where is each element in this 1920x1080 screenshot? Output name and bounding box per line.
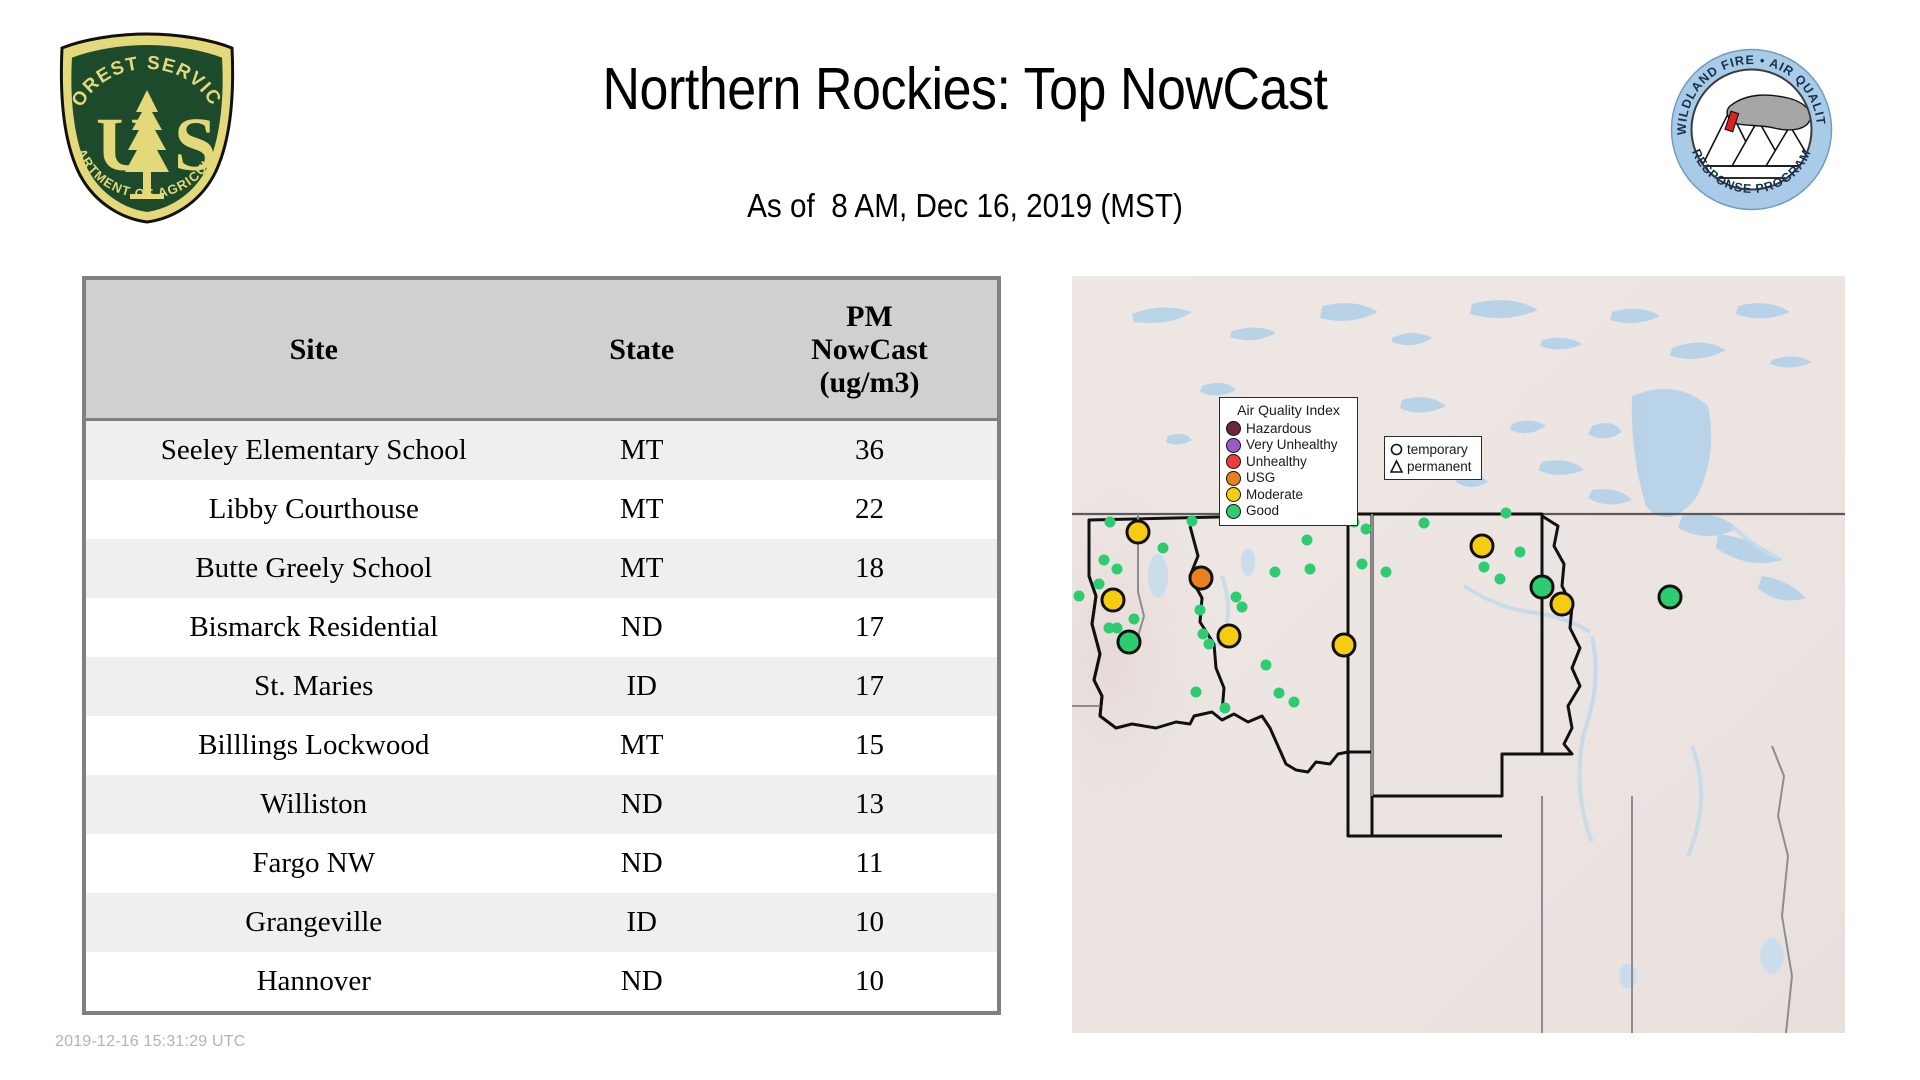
monitor-dot-small[interactable]: [1479, 562, 1490, 573]
state-cell: MT: [542, 480, 742, 539]
page-subtitle: As of 8 AM, Dec 16, 2019 (MST): [367, 188, 1564, 224]
aqi-legend-label: Unhealthy: [1246, 454, 1307, 471]
site-cell: Williston: [86, 775, 542, 834]
column-header-pm-nowcast: PM NowCast (ug/m3): [742, 280, 997, 420]
aqi-legend-label: Very Unhealthy: [1246, 437, 1338, 454]
state-cell: MT: [542, 539, 742, 598]
monitor-dot-large[interactable]: [1102, 589, 1124, 611]
value-cell: 10: [742, 893, 997, 952]
nowcast-label: NowCast: [811, 333, 928, 366]
state-cell: MT: [542, 716, 742, 775]
monitor-dot-small[interactable]: [1261, 660, 1272, 671]
monitor-dot-small[interactable]: [1204, 639, 1215, 650]
site-cell: Seeley Elementary School: [86, 420, 542, 481]
table-header-row: Site State PM NowCast (ug/m3): [86, 280, 997, 420]
aqi-swatch-icon: [1226, 454, 1241, 469]
value-cell: 17: [742, 657, 997, 716]
value-cell: 17: [742, 598, 997, 657]
monitor-dot-large[interactable]: [1118, 631, 1140, 653]
monitor-dot-small[interactable]: [1357, 559, 1368, 570]
monitor-dot-small[interactable]: [1195, 605, 1206, 616]
aqi-legend-title: Air Quality Index: [1226, 402, 1351, 419]
units-label: (ug/m3): [819, 366, 919, 399]
table-row: Libby CourthouseMT22: [86, 480, 997, 539]
monitor-dot-large[interactable]: [1190, 567, 1212, 589]
monitor-dot-small[interactable]: [1094, 579, 1105, 590]
monitor-dot-small[interactable]: [1289, 697, 1300, 708]
legend-permanent-label: permanent: [1407, 458, 1472, 475]
monitor-dot-small[interactable]: [1105, 517, 1116, 528]
monitor-dot-large[interactable]: [1471, 535, 1493, 557]
aqi-swatch-icon: [1226, 487, 1241, 502]
table-row: Bismarck ResidentialND17: [86, 598, 997, 657]
aqi-legend-label: Hazardous: [1246, 421, 1311, 438]
legend-permanent: permanent: [1390, 458, 1476, 475]
monitor-dot-small[interactable]: [1198, 629, 1209, 640]
aqi-legend-label: USG: [1246, 470, 1275, 487]
monitor-dot-small[interactable]: [1158, 543, 1169, 554]
aqi-legend-label: Moderate: [1246, 487, 1303, 504]
monitor-dot-small[interactable]: [1074, 591, 1085, 602]
monitor-dot-small[interactable]: [1361, 524, 1372, 535]
aqi-legend-label: Good: [1246, 503, 1279, 520]
monitor-dot-small[interactable]: [1237, 602, 1248, 613]
value-cell: 18: [742, 539, 997, 598]
table-row: St. MariesID17: [86, 657, 997, 716]
monitor-dot-large[interactable]: [1531, 576, 1553, 598]
column-header-state: State: [542, 280, 742, 420]
circle-marker-icon: [1390, 442, 1403, 457]
monitor-dot-small[interactable]: [1220, 703, 1231, 714]
triangle-marker-icon: [1390, 459, 1403, 474]
site-cell: St. Maries: [86, 657, 542, 716]
state-cell: ND: [542, 598, 742, 657]
table-row: Billlings LockwoodMT15: [86, 716, 997, 775]
site-cell: Bismarck Residential: [86, 598, 542, 657]
value-cell: 15: [742, 716, 997, 775]
site-cell: Hannover: [86, 952, 542, 1011]
value-cell: 11: [742, 834, 997, 893]
monitor-dot-small[interactable]: [1381, 567, 1392, 578]
aqi-legend: Air Quality Index HazardousVery Unhealth…: [1219, 397, 1358, 526]
monitor-type-legend: temporary permanent: [1384, 436, 1482, 480]
value-cell: 36: [742, 420, 997, 481]
air-quality-map[interactable]: Air Quality Index HazardousVery Unhealth…: [1072, 276, 1845, 1033]
aqi-legend-item: Good: [1226, 503, 1351, 520]
aqi-swatch-icon: [1226, 438, 1241, 453]
table-row: Fargo NWND11: [86, 834, 997, 893]
table-row: GrangevilleID10: [86, 893, 997, 952]
state-cell: ID: [542, 657, 742, 716]
state-cell: ND: [542, 834, 742, 893]
forest-service-logo: FOREST SERVICE U S DEPARTMENT OF AGRICUL…: [52, 30, 242, 225]
legend-temporary: temporary: [1390, 441, 1476, 458]
value-cell: 22: [742, 480, 997, 539]
aqi-legend-item: Unhealthy: [1226, 454, 1351, 471]
site-cell: Butte Greely School: [86, 539, 542, 598]
monitor-dot-large[interactable]: [1659, 586, 1681, 608]
monitor-dot-large[interactable]: [1218, 625, 1240, 647]
monitor-dot-small[interactable]: [1274, 688, 1285, 699]
site-cell: Grangeville: [86, 893, 542, 952]
monitor-dot-small[interactable]: [1191, 687, 1202, 698]
state-cell: ND: [542, 775, 742, 834]
site-cell: Billlings Lockwood: [86, 716, 542, 775]
aqi-swatch-icon: [1226, 421, 1241, 436]
aqi-swatch-icon: [1226, 504, 1241, 519]
table-row: HannoverND10: [86, 952, 997, 1011]
monitor-dot-small[interactable]: [1099, 555, 1110, 566]
state-cell: ID: [542, 893, 742, 952]
aqi-legend-item: Moderate: [1226, 487, 1351, 504]
aqi-legend-item: USG: [1226, 470, 1351, 487]
monitor-dot-small[interactable]: [1302, 535, 1313, 546]
map-canvas: [1072, 276, 1845, 1033]
value-cell: 13: [742, 775, 997, 834]
monitor-dot-small[interactable]: [1419, 518, 1430, 529]
nowcast-table: Site State PM NowCast (ug/m3) Seeley Ele…: [82, 276, 1001, 1015]
wfaqrp-logo: WILDLAND FIRE • AIR QUALITY RESPONSE PRO…: [1670, 48, 1833, 211]
aqi-swatch-icon: [1226, 471, 1241, 486]
monitor-dot-small[interactable]: [1495, 574, 1506, 585]
monitor-dot-small[interactable]: [1231, 592, 1242, 603]
state-cell: ND: [542, 952, 742, 1011]
monitor-dot-large[interactable]: [1551, 593, 1573, 615]
monitor-dot-large[interactable]: [1333, 634, 1355, 656]
pm-label: PM: [846, 300, 893, 333]
monitor-dot-small[interactable]: [1187, 516, 1198, 527]
page-title: Northern Rockies: Top NowCast: [380, 58, 1550, 120]
monitor-dot-small[interactable]: [1305, 564, 1316, 575]
monitor-dot-small[interactable]: [1129, 614, 1140, 625]
site-cell: Fargo NW: [86, 834, 542, 893]
site-cell: Libby Courthouse: [86, 480, 542, 539]
aqi-legend-item: Hazardous: [1226, 421, 1351, 438]
column-header-site: Site: [86, 280, 542, 420]
legend-temporary-label: temporary: [1407, 441, 1468, 458]
monitor-dot-small[interactable]: [1515, 547, 1526, 558]
value-cell: 10: [742, 952, 997, 1011]
monitor-dot-small[interactable]: [1112, 564, 1123, 575]
monitor-dot-small[interactable]: [1270, 567, 1281, 578]
monitor-dot-small[interactable]: [1112, 623, 1123, 634]
state-cell: MT: [542, 420, 742, 481]
aqi-legend-item: Very Unhealthy: [1226, 437, 1351, 454]
table-row: Seeley Elementary SchoolMT36: [86, 420, 997, 481]
table-row: Butte Greely SchoolMT18: [86, 539, 997, 598]
table-row: WillistonND13: [86, 775, 997, 834]
generation-timestamp: 2019-12-16 15:31:29 UTC: [55, 1033, 246, 1051]
monitor-dot-large[interactable]: [1127, 521, 1149, 543]
monitor-dot-small[interactable]: [1501, 508, 1512, 519]
